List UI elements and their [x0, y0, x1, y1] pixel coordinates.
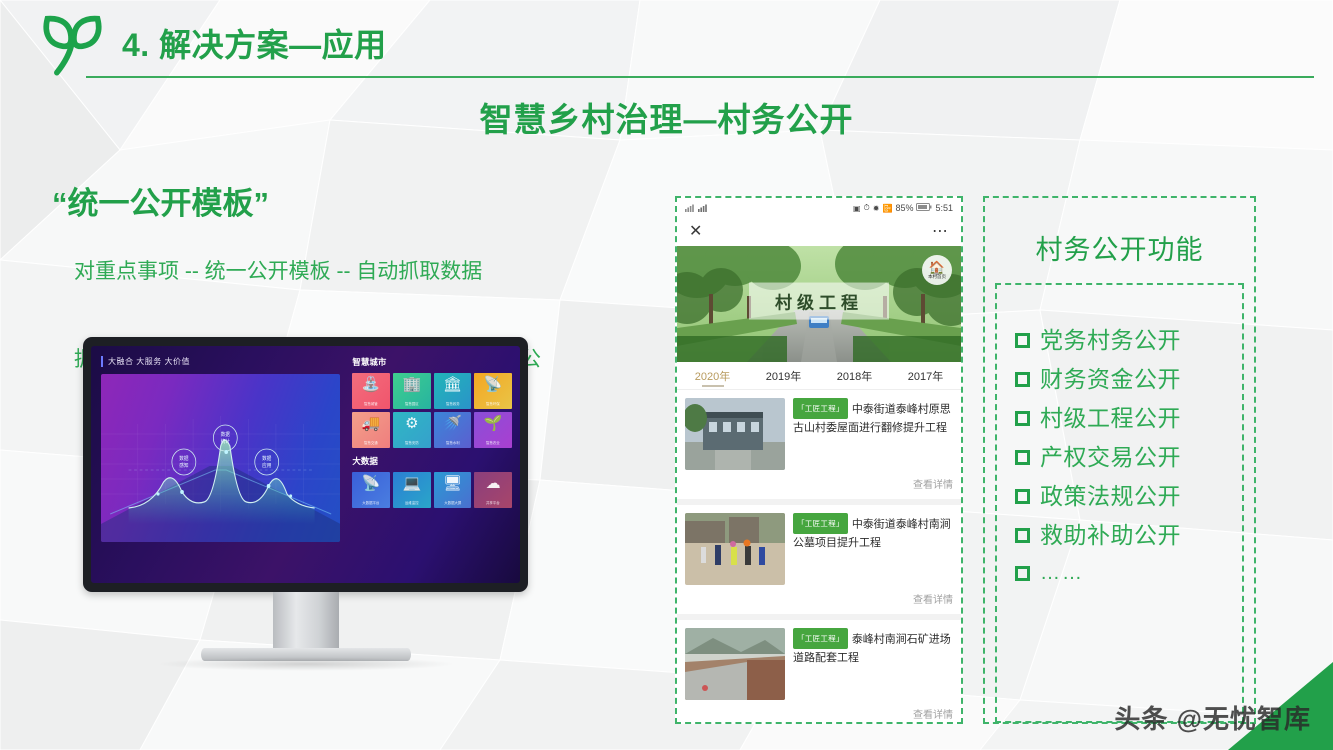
dashboard-tile-icon: 🏢 [393, 377, 431, 392]
svg-text:数据: 数据 [262, 455, 271, 462]
dashboard-tile-label: 智慧环保 [477, 402, 509, 407]
dashboard-tile[interactable]: 🌱智慧农业 [474, 412, 512, 448]
lead-quote: “统一公开模板” [52, 178, 269, 223]
big-data-tile-grid: 📡大数据平台💻运维监控🖥大数据大屏☁共享平台 [352, 472, 512, 508]
news-detail-link[interactable]: 查看详情 [685, 476, 953, 491]
dashboard-tagline: 大融合 大服务 大价值 [101, 356, 340, 367]
dashboard-tile[interactable]: 📡大数据平台 [352, 472, 390, 508]
dashboard-section-title-bigdata: 大数据 [352, 455, 512, 467]
more-options-icon[interactable]: ⋯ [932, 224, 949, 240]
dashboard-tile-icon: 📡 [352, 476, 390, 491]
feature-item-label: 产权交易公开 [1040, 446, 1181, 469]
signal-bars-icon [685, 203, 711, 213]
dashboard-tile-icon: 🖥 [434, 476, 472, 491]
news-thumbnail [685, 398, 785, 470]
year-tab[interactable]: 2017年 [890, 362, 961, 389]
dashboard-tile-icon: 🏛 [434, 377, 472, 392]
alarm-icon: ⏱ [864, 203, 870, 213]
home-button[interactable]: 🏠 本村首页 [922, 255, 952, 285]
feature-panel-title: 村务公开功能 [995, 228, 1244, 267]
news-tag: 「工匠工程」 [793, 513, 848, 534]
news-tag: 「工匠工程」 [793, 398, 848, 419]
dashboard-tile[interactable]: 🚿智慧水利 [434, 412, 472, 448]
page-subtitle: 智慧乡村治理—村务公开 [0, 93, 1333, 141]
svg-text:数据: 数据 [179, 455, 188, 462]
dashboard-tile-label: 智慧政务 [437, 402, 469, 407]
monitor-shadow [156, 657, 456, 671]
feature-list-item: …… [1015, 563, 1242, 583]
dashboard-tile-label: 大数据大屏 [437, 501, 469, 506]
lead-body: 对重点事项 -- 统一公开模板 -- 自动抓取数据 [74, 250, 569, 294]
dashboard-tile-label: 智慧城管 [355, 402, 387, 407]
year-tab[interactable]: 2018年 [819, 362, 890, 389]
home-button-label: 本村首页 [928, 275, 946, 280]
vibrate-icon: 📴 [882, 204, 892, 213]
hero-banner-title: 村级工程 [749, 283, 889, 320]
dashboard-tile-icon: 🌱 [474, 416, 512, 431]
phone-app-panel: ▣ ⏱ ✹ 📴 85% 5:51 ✕ ⋯ [675, 196, 963, 724]
feature-list-item: 政策法规公开 [1015, 485, 1242, 508]
dashboard-section-title-smartcity: 智慧城市 [352, 356, 512, 368]
checkbox-icon [1015, 411, 1030, 426]
news-list-item[interactable]: 「工匠工程」中泰街道泰峰村原思古山村委屋面进行翻修提升工程查看详情 [677, 390, 961, 499]
dashboard-tile[interactable]: 💻运维监控 [393, 472, 431, 508]
hero-banner-image: 村级工程 🏠 本村首页 [677, 246, 961, 362]
news-tag: 「工匠工程」 [793, 628, 848, 649]
dashboard-tile-icon: ⛲ [352, 377, 390, 392]
feature-item-label: 村级工程公开 [1040, 407, 1181, 430]
dashboard-tile[interactable]: ⛲智慧城管 [352, 373, 390, 409]
dashboard-tile[interactable]: 🖥大数据大屏 [434, 472, 472, 508]
phone-status-bar: ▣ ⏱ ✹ 📴 85% 5:51 [677, 198, 961, 218]
checkbox-icon [1015, 528, 1030, 543]
clock-time: 5:51 [935, 203, 953, 213]
news-detail-link[interactable]: 查看详情 [685, 706, 953, 721]
svg-text:应用: 应用 [262, 462, 271, 469]
monitor-stand-neck [273, 592, 339, 650]
news-text-block: 「工匠工程」泰峰村南涧石矿进场道路配套工程 [793, 628, 953, 700]
dashboard-tile-icon: 📡 [474, 377, 512, 392]
feature-item-label: …… [1040, 563, 1084, 583]
desktop-monitor-mockup: 大融合 大服务 大价值 [83, 337, 528, 685]
dashboard-tile-icon: 🚚 [352, 416, 390, 431]
year-tab-bar[interactable]: 2020年2019年2018年2017年 [677, 362, 961, 390]
feature-item-label: 党务村务公开 [1040, 329, 1181, 352]
dashboard-tile-label: 智慧农业 [477, 441, 509, 446]
svg-text:数据: 数据 [221, 431, 230, 438]
village-affairs-feature-panel: 村务公开功能 党务村务公开财务资金公开村级工程公开产权交易公开政策法规公开救助补… [983, 196, 1256, 724]
dashboard-tile-label: 智慧水利 [437, 441, 469, 446]
year-tab[interactable]: 2019年 [748, 362, 819, 389]
feature-item-label: 财务资金公开 [1040, 368, 1181, 391]
dashboard-tile[interactable]: 🏢智慧园区 [393, 373, 431, 409]
checkbox-icon [1015, 489, 1030, 504]
news-list-item[interactable]: 「工匠工程」中泰街道泰峰村南涧公墓项目提升工程查看详情 [677, 505, 961, 614]
dashboard-tile-icon: 🚿 [434, 416, 472, 431]
news-thumbnail [685, 513, 785, 585]
monitor-screen: 大融合 大服务 大价值 [91, 346, 520, 583]
news-text-block: 「工匠工程」中泰街道泰峰村原思古山村委屋面进行翻修提升工程 [793, 398, 953, 470]
battery-icon [916, 203, 932, 213]
header-divider [86, 76, 1314, 78]
nfc-icon: ▣ [853, 204, 861, 213]
feature-item-label: 救助补助公开 [1040, 524, 1181, 547]
dashboard-tile[interactable]: ⚙智慧安防 [393, 412, 431, 448]
svg-text:感知: 感知 [179, 462, 188, 469]
dashboard-tile-icon: ⚙ [393, 416, 431, 431]
battery-percent: 85% [895, 203, 913, 213]
dashboard-tile-icon: 💻 [393, 476, 431, 491]
phone-nav-bar: ✕ ⋯ [677, 218, 961, 246]
news-detail-link[interactable]: 查看详情 [685, 591, 953, 606]
page-title: 4. 解决方案—应用 [122, 20, 387, 66]
slide-root: 4. 解决方案—应用 智慧乡村治理—村务公开 “统一公开模板” 对重点事项 --… [0, 0, 1333, 750]
feature-list-item: 产权交易公开 [1015, 446, 1242, 469]
feature-list-item: 村级工程公开 [1015, 407, 1242, 430]
news-list: 「工匠工程」中泰街道泰峰村原思古山村委屋面进行翻修提升工程查看详情「工匠工程」中… [677, 390, 961, 724]
dashboard-tile[interactable]: 🚚智慧交通 [352, 412, 390, 448]
dashboard-tile[interactable]: ☁共享平台 [474, 472, 512, 508]
news-text-block: 「工匠工程」中泰街道泰峰村南涧公墓项目提升工程 [793, 513, 953, 585]
bluetooth-icon: ✹ [873, 204, 880, 213]
smart-city-tile-grid: ⛲智慧城管🏢智慧园区🏛智慧政务📡智慧环保🚚智慧交通⚙智慧安防🚿智慧水利🌱智慧农业 [352, 373, 512, 448]
dashboard-right-pane: 智慧城市 ⛲智慧城管🏢智慧园区🏛智慧政务📡智慧环保🚚智慧交通⚙智慧安防🚿智慧水利… [348, 346, 520, 583]
svg-text:统计: 统计 [221, 438, 230, 445]
checkbox-icon [1015, 333, 1030, 348]
dashboard-tile-label: 智慧安防 [396, 441, 428, 446]
dashboard-tile-label: 大数据平台 [355, 501, 387, 506]
checkbox-icon [1015, 450, 1030, 465]
dashboard-tile-label: 智慧交通 [355, 441, 387, 446]
news-thumbnail [685, 628, 785, 700]
dashboard-tile-icon: ☁ [474, 476, 512, 491]
feature-list: 党务村务公开财务资金公开村级工程公开产权交易公开政策法规公开救助补助公开…… [995, 283, 1244, 723]
dashboard-tile-label: 共享平台 [477, 501, 509, 506]
dashboard-tile-label: 智慧园区 [396, 402, 428, 407]
status-right-cluster: ▣ ⏱ ✹ 📴 85% 5:51 [853, 203, 953, 213]
checkbox-icon [1015, 566, 1030, 581]
news-list-item[interactable]: 「工匠工程」泰峰村南涧石矿进场道路配套工程查看详情 [677, 620, 961, 724]
feature-list-item: 财务资金公开 [1015, 368, 1242, 391]
leaf-sprout-icon [34, 14, 110, 84]
year-tab[interactable]: 2020年 [677, 362, 748, 389]
dashboard-tile[interactable]: 📡智慧环保 [474, 373, 512, 409]
monitor-bezel: 大融合 大服务 大价值 [83, 337, 528, 592]
home-icon: 🏠 [929, 261, 945, 274]
feature-item-label: 政策法规公开 [1040, 485, 1181, 508]
checkbox-icon [1015, 372, 1030, 387]
data-visualization: 数据 感知 数据 统计 数据 应用 [101, 374, 340, 542]
feature-list-item: 救助补助公开 [1015, 524, 1242, 547]
close-icon[interactable]: ✕ [689, 224, 702, 240]
watermark: 头条 @无忧智库 [1114, 699, 1311, 736]
feature-list-item: 党务村务公开 [1015, 329, 1242, 352]
dashboard-tile[interactable]: 🏛智慧政务 [434, 373, 472, 409]
dashboard-tile-label: 运维监控 [396, 501, 428, 506]
dashboard-left-pane: 大融合 大服务 大价值 [91, 346, 348, 583]
